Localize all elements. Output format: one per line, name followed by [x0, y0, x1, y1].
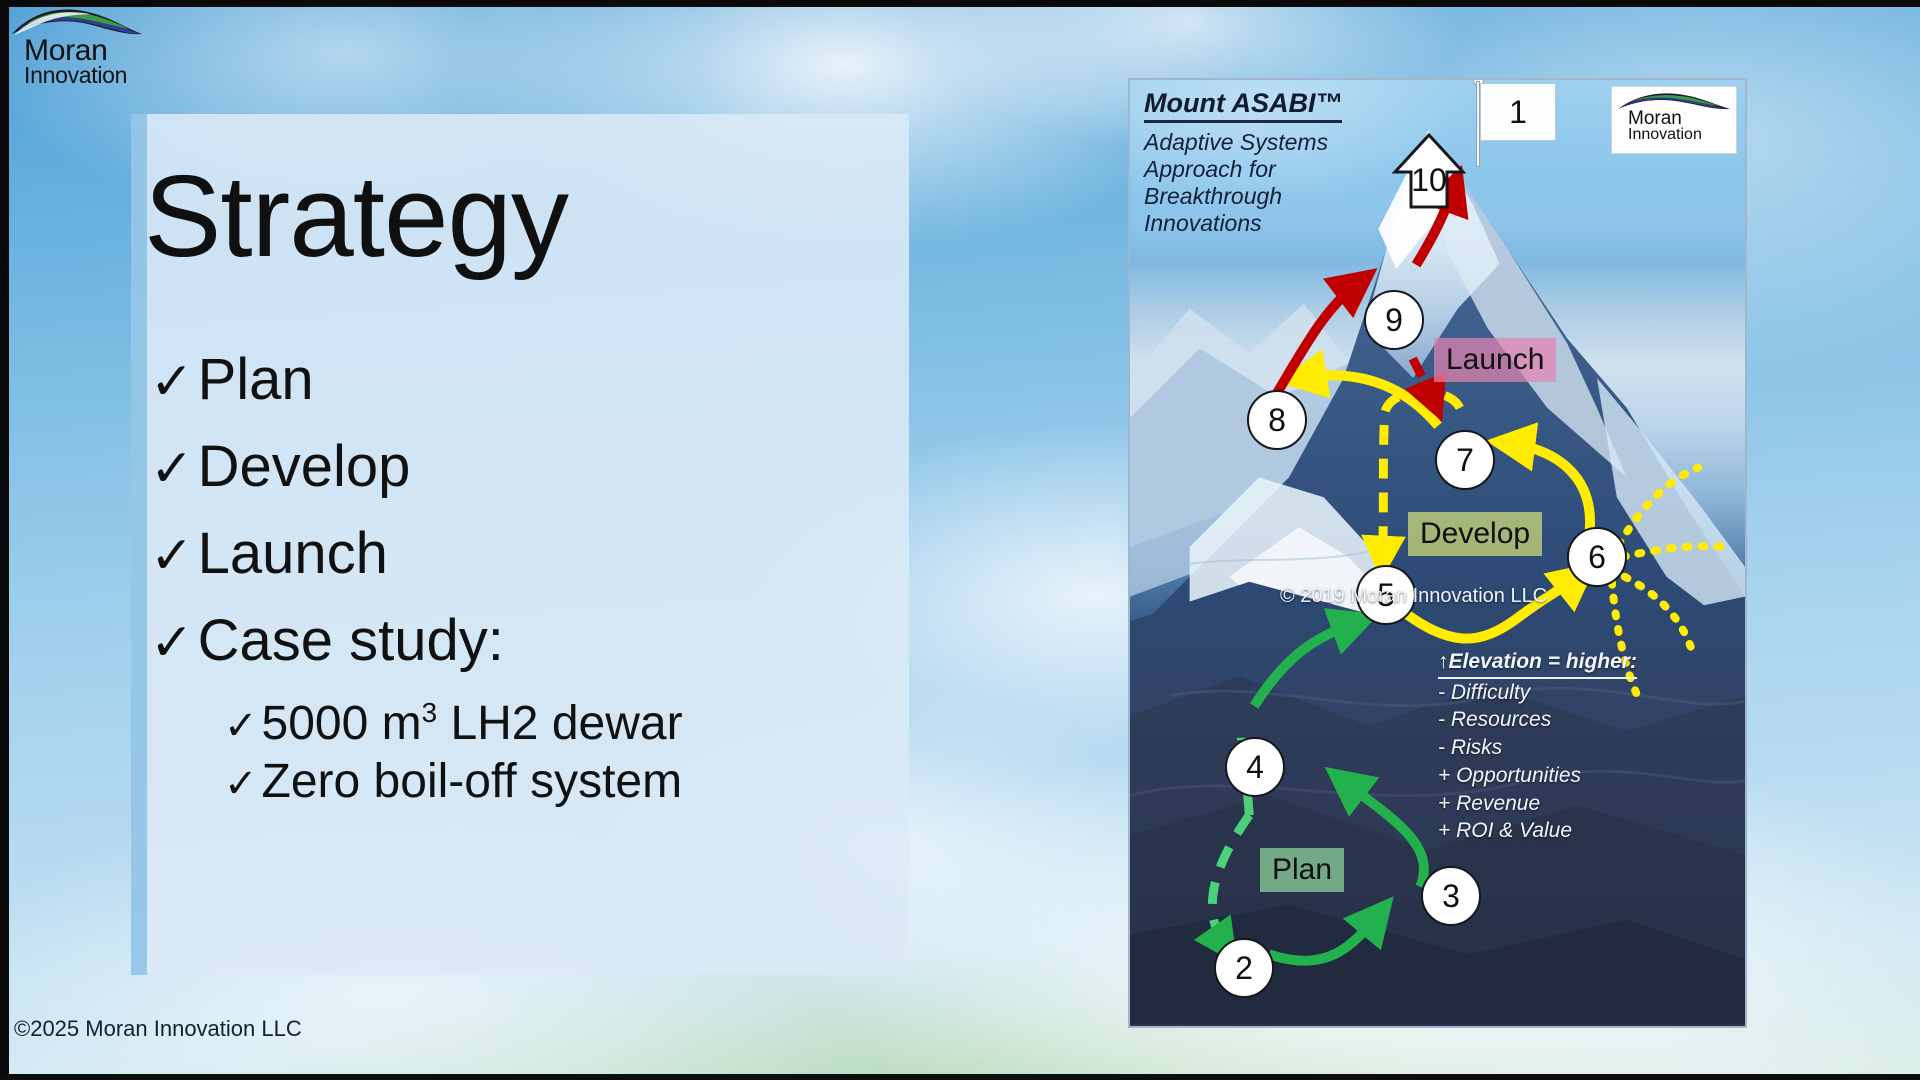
node-label: 6 — [1588, 539, 1606, 576]
list-item: ✓ Case study: — [150, 611, 890, 672]
diagram-title: Mount ASABI™ — [1144, 88, 1342, 123]
phase-tag-plan: Plan — [1260, 848, 1344, 892]
capture-edge-top — [0, 0, 1920, 7]
diagram-brand-line2: Innovation — [1628, 127, 1702, 143]
check-icon: ✓ — [150, 617, 194, 669]
brand-logo: Moran Innovation — [10, 4, 145, 99]
node-4: 4 — [1225, 737, 1285, 797]
list-item: ✓ Launch — [150, 524, 890, 585]
list-item: ✓ Zero boil-off system — [224, 757, 890, 807]
list-item-label: Zero boil-off system — [262, 757, 683, 807]
list-item-label: Launch — [198, 524, 388, 585]
diagram-brand-logo: Moran Innovation — [1611, 86, 1737, 154]
page-title: Strategy — [144, 158, 844, 274]
phase-tag-develop: Develop — [1408, 512, 1542, 556]
node-label: 3 — [1442, 878, 1460, 915]
phase-tag-launch: Launch — [1434, 338, 1556, 382]
diagram-subtitle-line: Innovations — [1144, 210, 1404, 237]
node-3: 3 — [1421, 866, 1481, 926]
check-icon: ✓ — [224, 706, 258, 746]
bullet-list: ✓ Plan ✓ Develop ✓ Launch ✓ Case study: … — [150, 350, 890, 815]
brand-name-line2: Innovation — [24, 64, 127, 87]
node-9: 9 — [1364, 290, 1424, 350]
capture-edge-bottom — [0, 1074, 1920, 1080]
elevation-legend-heading: ↑Elevation = higher: — [1438, 648, 1637, 679]
list-item-label: Develop — [198, 437, 411, 498]
diagram-subtitle-line: Approach for — [1144, 156, 1404, 183]
elevation-legend-item: - Risks — [1438, 734, 1738, 762]
flag-label: 1 — [1480, 83, 1556, 141]
node-8: 8 — [1247, 390, 1307, 450]
list-item-label: 5000 m3 LH2 dewar — [262, 698, 683, 749]
node-label: 4 — [1246, 749, 1264, 786]
node-label: 8 — [1268, 402, 1286, 439]
elevation-legend-item: - Difficulty — [1438, 679, 1738, 707]
list-item: ✓ 5000 m3 LH2 dewar — [224, 698, 890, 749]
elevation-legend-item: + ROI & Value — [1438, 817, 1738, 845]
elevation-legend: ↑Elevation = higher: - Difficulty - Reso… — [1438, 648, 1738, 845]
capture-edge-left — [0, 0, 9, 1080]
list-item-label: Plan — [198, 350, 314, 411]
summit-node-label: 10 — [1392, 162, 1466, 199]
check-icon: ✓ — [224, 764, 258, 804]
elevation-legend-item: + Opportunities — [1438, 762, 1738, 790]
node-7: 7 — [1435, 430, 1495, 490]
list-item: ✓ Plan — [150, 350, 890, 411]
diagram-title-block: Mount ASABI™ Adaptive Systems Approach f… — [1144, 88, 1404, 238]
node-label: 7 — [1456, 442, 1474, 479]
check-icon: ✓ — [150, 356, 194, 408]
diagram-subtitle: Adaptive Systems Approach for Breakthrou… — [1144, 129, 1404, 238]
diagram-copyright: © 2019 Moran Innovation LLC — [1280, 585, 1547, 608]
check-icon: ✓ — [150, 443, 194, 495]
node-6: 6 — [1567, 527, 1627, 587]
summit-node-10: 10 — [1392, 132, 1466, 210]
list-item: ✓ Develop — [150, 437, 890, 498]
slide-canvas: Moran Innovation Strategy ✓ Plan ✓ Devel… — [0, 0, 1920, 1080]
diagram-subtitle-line: Breakthrough — [1144, 183, 1404, 210]
node-label: 2 — [1235, 950, 1253, 987]
diagram-subtitle-line: Adaptive Systems — [1144, 129, 1404, 156]
check-icon: ✓ — [150, 530, 194, 582]
node-2: 2 — [1214, 938, 1274, 998]
elevation-legend-item: - Resources — [1438, 706, 1738, 734]
node-label: 9 — [1385, 302, 1403, 339]
copyright-footer: ©2025 Moran Innovation LLC — [14, 1016, 302, 1042]
elevation-legend-item: + Revenue — [1438, 790, 1738, 818]
mount-asabi-diagram: Mount ASABI™ Adaptive Systems Approach f… — [1128, 78, 1747, 1028]
list-item-label: Case study: — [198, 611, 504, 672]
